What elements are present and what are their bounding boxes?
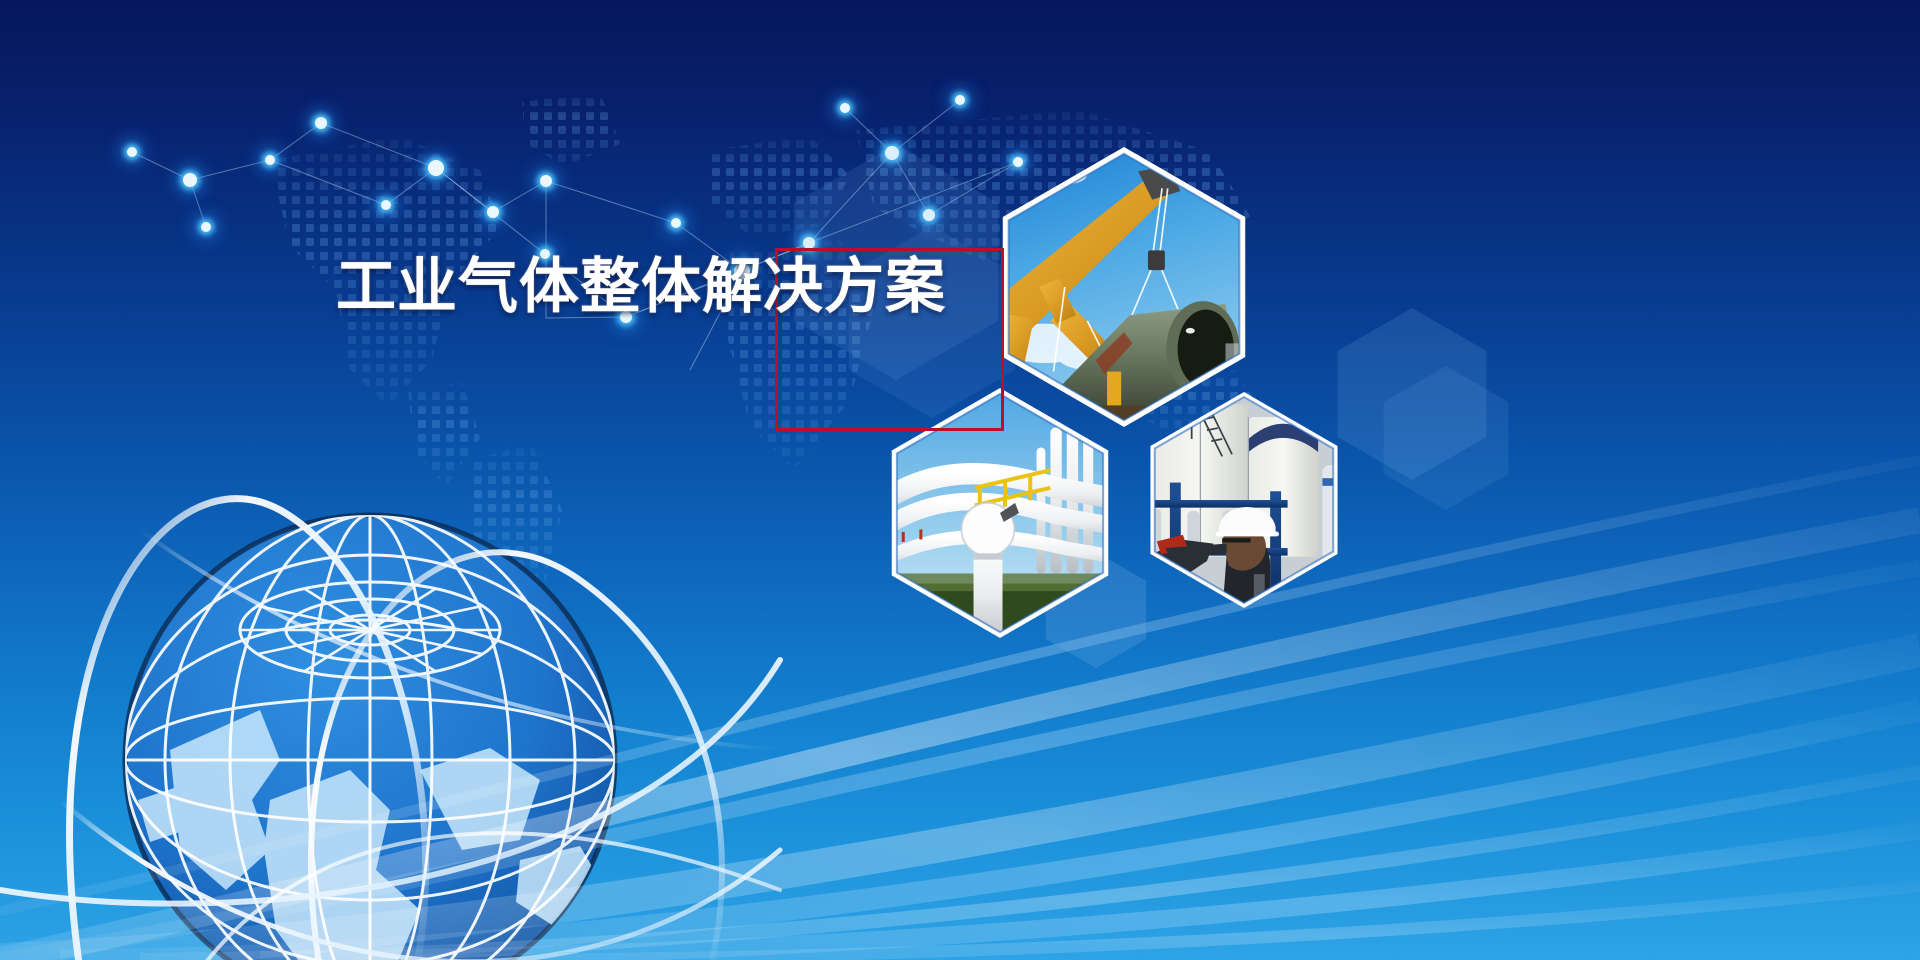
network-node-dot (315, 117, 327, 129)
network-node-dot (671, 218, 681, 228)
network-node-dot (381, 200, 391, 210)
banner-stage: 工业气体整体解决方案 (0, 0, 1920, 960)
hex-photo-crane (983, 146, 1265, 428)
hex-photo-operator (1135, 391, 1353, 609)
network-node-dot (540, 175, 552, 187)
network-node-dot (487, 206, 499, 218)
network-node-dot (265, 155, 275, 165)
network-node-dot (183, 173, 197, 187)
decorative-hexagon (1374, 366, 1518, 510)
network-node-dot (840, 103, 850, 113)
page-title: 工业气体整体解决方案 (336, 251, 946, 323)
network-node-dot (127, 147, 137, 157)
network-node-dot (201, 222, 211, 232)
network-node-dot (955, 95, 965, 105)
network-node-dot (428, 160, 444, 176)
